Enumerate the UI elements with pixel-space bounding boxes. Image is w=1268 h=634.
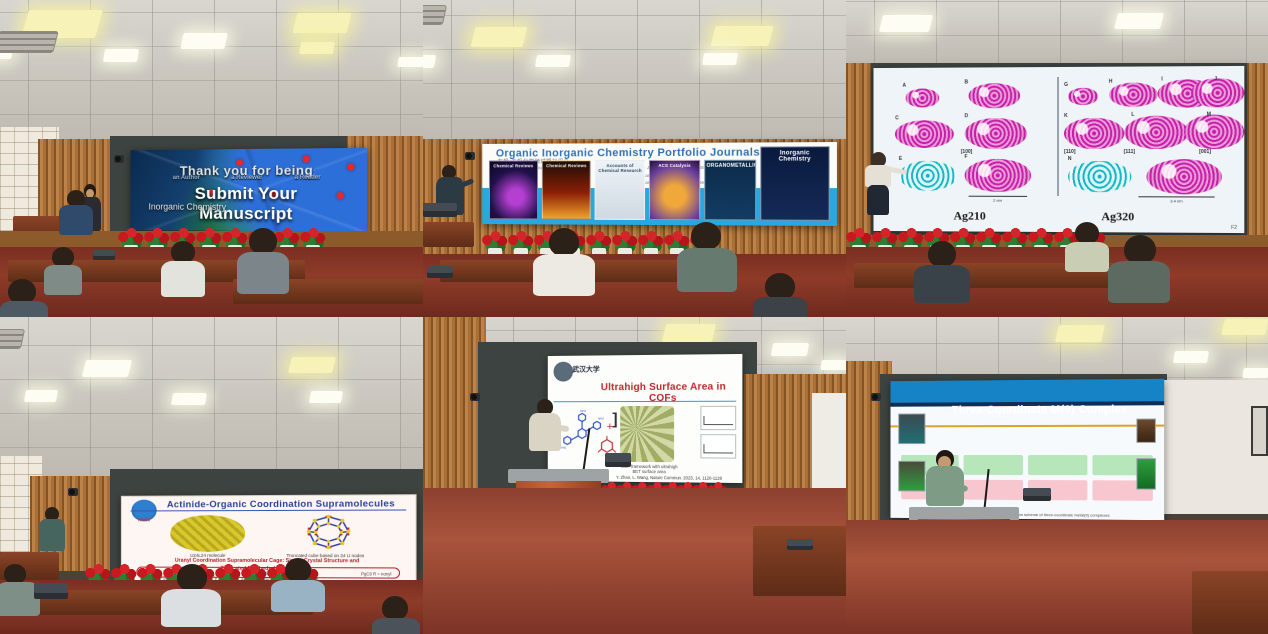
audience-body — [1108, 261, 1170, 303]
speaker-legs — [867, 185, 889, 215]
nanocluster-structure — [1192, 77, 1245, 107]
panel-letter: J — [1215, 76, 1218, 82]
pore-distribution-plot — [700, 434, 736, 459]
laptop — [427, 266, 453, 278]
audience-body — [753, 297, 807, 317]
ceiling-tile-grid — [423, 0, 846, 152]
slide-role: a Reviewer — [231, 174, 262, 180]
panel-letter: E — [899, 155, 902, 161]
audience-head — [171, 241, 195, 263]
audience-body — [0, 301, 48, 317]
wall-camera-icon — [114, 155, 124, 163]
wood-wall-panel — [1247, 63, 1268, 241]
cover-title: Chemical Reviews — [544, 163, 589, 168]
audience-body — [161, 261, 205, 297]
audience-member — [42, 247, 82, 292]
ceiling-tile-grid — [0, 317, 423, 482]
audience-member — [161, 241, 205, 291]
facet-label: [001] — [1199, 149, 1211, 155]
panel-letter: K — [1064, 113, 1068, 119]
audience-member — [372, 596, 420, 634]
ceiling-lamp — [1242, 368, 1268, 378]
cover-title: Accounts of Chemical Research — [597, 163, 642, 173]
svg-text:NH2: NH2 — [597, 416, 603, 420]
speaker — [863, 152, 897, 214]
ceiling — [846, 0, 1268, 70]
svg-text:NH2: NH2 — [579, 409, 585, 413]
wall-frame — [1251, 406, 1268, 457]
panel-letter: G — [1064, 81, 1068, 87]
panel-letter: N — [1068, 156, 1072, 162]
ceiling-lamp — [82, 360, 132, 377]
ceiling-lamp — [299, 42, 335, 54]
ceiling-lamp — [292, 13, 351, 33]
air-conditioner-vent — [0, 31, 58, 53]
cover-title: ORGANOMETALLICS — [707, 162, 754, 168]
nanocluster-structure — [968, 83, 1019, 108]
side-wall — [812, 393, 846, 501]
audience-head — [928, 241, 956, 267]
cluster-formula: Ag210 — [954, 208, 986, 223]
sample-photo — [899, 414, 926, 444]
audience-body — [161, 589, 221, 627]
projection-screen: A B C D E F [100] 2 nm Ag210 G H I J K L — [874, 65, 1245, 232]
scheme-cell — [1028, 430, 1088, 450]
audience-member — [1065, 222, 1109, 266]
slide-accent-rule — [891, 425, 1165, 428]
nanocluster-structure — [1068, 161, 1131, 193]
slide-reference: Y. Zhao, L. Wang, Nature Commun. 2023, 1… — [604, 474, 733, 481]
nanocluster-structure — [896, 120, 954, 148]
nanocluster-structure — [965, 118, 1028, 149]
audience-member — [0, 279, 48, 317]
audience-member — [677, 222, 737, 286]
audience-head — [249, 228, 277, 254]
audience-body — [59, 205, 93, 235]
figure-divider — [1057, 76, 1059, 195]
nanocluster-structure — [1068, 88, 1098, 105]
scheme-cell — [1028, 456, 1088, 476]
truncated-cube-svg — [284, 513, 373, 553]
sample-photo — [899, 461, 926, 491]
audience-head — [1075, 222, 1099, 244]
nanocluster-structure — [1109, 83, 1158, 106]
bracket-icon: ] — [612, 411, 617, 429]
ceiling-lamp — [288, 357, 336, 373]
facet-label: [110] — [1064, 149, 1075, 155]
university-name: 武汉大学 — [572, 364, 599, 374]
isotherm-plot — [700, 406, 736, 430]
slide-title: Three-Coordinate M(0) Complex — [933, 404, 1147, 417]
ceiling-lamp — [711, 26, 774, 46]
audience-head — [4, 564, 26, 584]
journal-covers: Chemical Reviews Chemical Reviews Accoun… — [489, 148, 830, 221]
ceiling-lamp — [820, 360, 846, 370]
ceiling-lamp — [24, 390, 58, 402]
scale-bar: 2 nm — [968, 195, 1027, 196]
speaker — [529, 399, 563, 463]
audience-member — [59, 190, 93, 232]
nanocluster-structure — [1147, 159, 1223, 194]
truncated-cube-figure — [284, 513, 373, 553]
ceiling-tile-grid — [846, 0, 1268, 70]
ceiling-lamp — [1055, 325, 1105, 342]
cover-title: Chemical Reviews — [491, 163, 535, 168]
audience-body — [1065, 242, 1109, 272]
scale-bar-label: 3.4 nm — [1171, 198, 1183, 203]
audience-head — [285, 558, 311, 582]
audience-body — [271, 580, 325, 612]
audience-body — [372, 618, 420, 634]
wall-camera-icon — [871, 393, 881, 401]
panel-letter: B — [965, 79, 969, 85]
wall-camera-icon — [68, 488, 78, 496]
panel-letter: L — [1132, 111, 1135, 117]
audience-head — [382, 596, 408, 620]
scheme-cell — [964, 455, 1023, 475]
ceiling-lamp — [1221, 319, 1268, 335]
audience-head — [177, 564, 207, 591]
audience-body — [677, 248, 737, 292]
projection-screen: 武汉大学 Ultrahigh Surface Area in COFs NH2N… — [547, 354, 741, 483]
audience-body — [44, 265, 82, 295]
audience-member — [533, 228, 595, 290]
slide-header-band — [891, 379, 1165, 403]
nanocluster-structure — [965, 159, 1031, 192]
audience-body — [237, 252, 289, 294]
audience-head — [52, 247, 74, 267]
audience-member — [161, 564, 221, 622]
laptop — [787, 539, 813, 550]
ceiling-lamp — [702, 53, 738, 65]
ceiling-lamp — [1173, 351, 1209, 363]
ceiling — [423, 0, 846, 152]
ceiling-lamp — [771, 343, 809, 356]
ceiling-lamp — [171, 393, 207, 405]
laptop — [605, 453, 631, 467]
wall-camera-icon — [465, 152, 475, 160]
panel-letter: A — [903, 82, 907, 88]
slide-roles: an Author a Reviewer a Reader — [157, 174, 337, 181]
journal-cover: Chemical Reviews — [489, 160, 538, 220]
ceiling — [0, 317, 423, 482]
ceiling-lamp — [662, 324, 716, 342]
panel-letter: M — [1207, 111, 1211, 117]
nanocluster-structure — [1184, 114, 1245, 149]
side-table — [1192, 571, 1268, 634]
molecule-figure — [171, 515, 246, 551]
nanocluster-structure — [906, 88, 939, 106]
panel-2-portfolio-talk: Organic Inorganic Chemistry Portfolio Jo… — [423, 0, 846, 317]
ceiling-lamp — [180, 33, 227, 49]
facet-label: [111] — [1124, 149, 1135, 155]
journal-cover: Accounts of Chemical Research — [595, 159, 645, 220]
university-logo-icon — [553, 362, 572, 382]
ceiling-lamp — [1114, 13, 1164, 29]
wall-camera-icon — [470, 393, 480, 401]
audience-head — [549, 228, 579, 256]
ceiling-lamp — [102, 49, 138, 62]
panel-letter: C — [896, 115, 900, 121]
panel-letter: H — [1109, 78, 1113, 84]
audience-member — [271, 558, 325, 608]
ceiling-lamp — [309, 391, 343, 403]
audience-head — [691, 222, 721, 250]
ceiling — [0, 0, 423, 149]
photo-collage: Thank you for being an Author a Reviewer… — [0, 0, 1268, 634]
journal-cover: ORGANOMETALLICS — [704, 159, 756, 221]
scheme-cell — [964, 431, 1023, 451]
panel-3-nanocluster-talk: A B C D E F [100] 2 nm Ag210 G H I J K L — [846, 0, 1268, 317]
panel-6-three-coordinate-talk: Three-Coordinate M(0) Complex Reactio — [846, 317, 1268, 634]
laptop — [93, 250, 115, 260]
panel-4-actinide-talk: HNEC Actinide-Organic Coordination Supra… — [0, 317, 423, 634]
scale-bar: 3.4 nm — [1139, 195, 1214, 196]
panel-5-cof-talk: 武汉大学 Ultrahigh Surface Area in COFs NH2N… — [423, 317, 846, 634]
ceiling-lamp — [879, 15, 933, 32]
speaker-body — [39, 519, 65, 551]
side-table — [753, 526, 846, 596]
lectern — [423, 222, 474, 247]
facet-label: [100] — [961, 149, 973, 155]
ceiling-lamp — [423, 55, 436, 68]
speaker-body — [529, 413, 561, 451]
slide-journal-name: Inorganic Chemistry — [148, 201, 226, 211]
projection-screen: Organic Inorganic Chemistry Portfolio Jo… — [482, 142, 837, 226]
scheme-cell — [964, 480, 1023, 500]
audience-body — [533, 254, 595, 296]
sample-photo — [1136, 419, 1156, 443]
audience-member — [237, 228, 289, 286]
audience-head — [1124, 235, 1156, 264]
cover-title: Inorganic Chemistry — [763, 149, 827, 161]
scale-bar-label: 2 nm — [993, 197, 1002, 202]
figure-caption-left: U24L24 molecule — [159, 553, 257, 558]
audience-body — [914, 265, 970, 303]
laptop — [423, 203, 457, 217]
panel-1-lecture-hall: Thank you for being an Author a Reviewer… — [0, 0, 423, 317]
nanocluster-structure — [899, 160, 957, 189]
slide-role: a Reader — [295, 174, 321, 180]
ceiling-lamp — [397, 57, 423, 67]
nanocluster-structure — [1064, 118, 1124, 149]
journal-cover: Chemical Reviews — [542, 159, 591, 219]
panel-letter: D — [965, 113, 969, 119]
journal-cover: Inorganic Chemistry — [760, 146, 830, 221]
laptop — [1023, 488, 1051, 501]
ceiling-lamp — [535, 55, 571, 67]
laptop — [34, 583, 68, 599]
audience-member — [753, 273, 807, 317]
cover-title: ACS Catalysis — [652, 162, 698, 167]
audience-head — [765, 273, 795, 300]
sample-photo — [1136, 459, 1156, 490]
air-conditioner-vent — [0, 329, 25, 349]
journal-cover: ACS Catalysis — [649, 159, 700, 220]
audience-member — [914, 241, 970, 299]
wood-wall-panel — [423, 317, 486, 514]
audience-member — [1108, 235, 1170, 297]
nanocluster-structure — [1124, 116, 1188, 149]
slide-role: an Author — [173, 175, 200, 181]
ceiling-lamp — [470, 27, 527, 47]
projection-screen: Thank you for being an Author a Reviewer… — [130, 148, 366, 233]
